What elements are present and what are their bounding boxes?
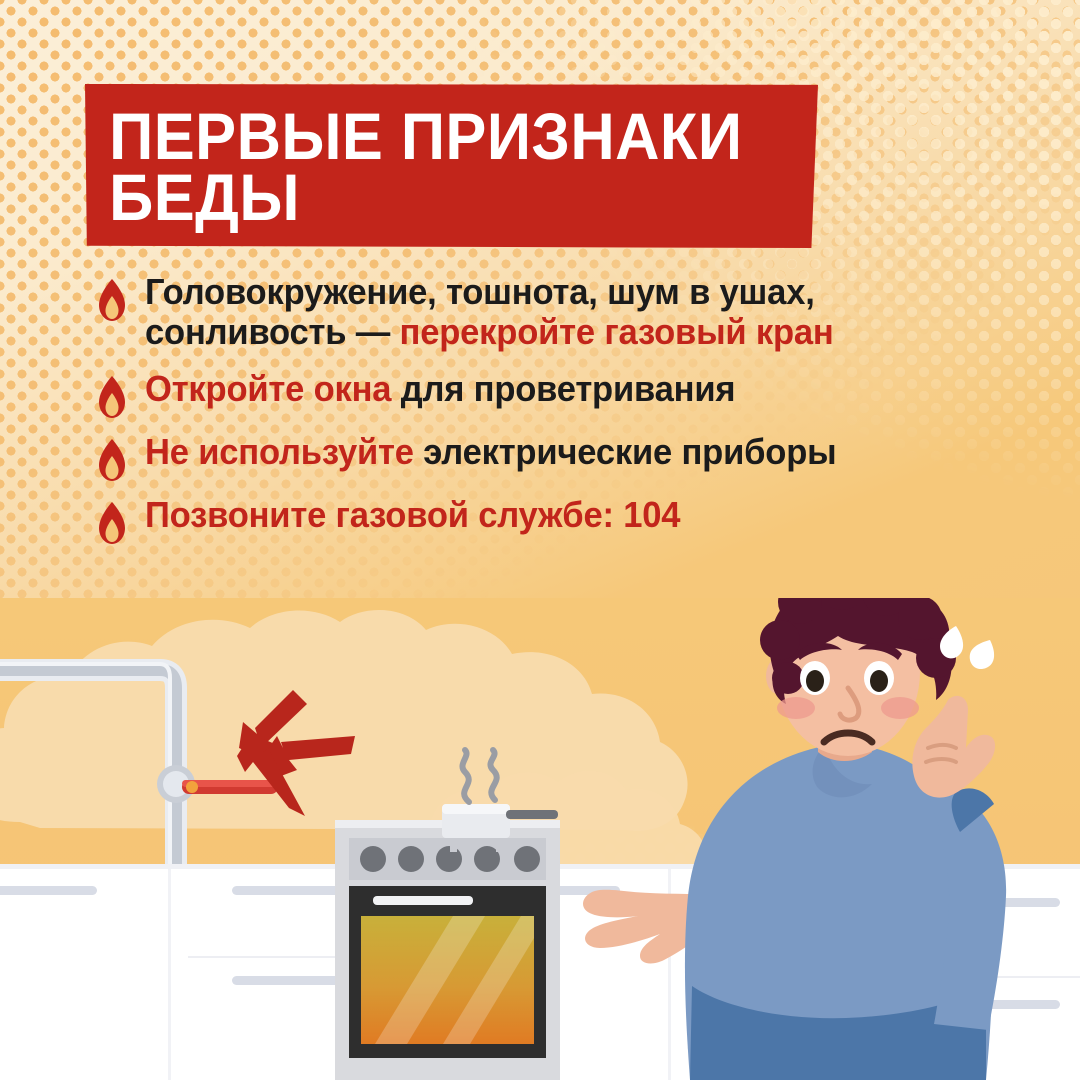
list-item-highlight-2: Откройте окна xyxy=(145,368,391,409)
list-item-plain-3: электрические приборы xyxy=(414,431,837,472)
kitchen-scene xyxy=(0,598,1080,1080)
list-item-highlight-3: Не используйте xyxy=(145,431,414,472)
list-item-text: Не используйте электрические приборы xyxy=(145,432,836,472)
flame-icon xyxy=(96,502,128,544)
list-item: Откройте окна для проветривания xyxy=(96,369,1046,418)
poster-root: ПЕРВЫЕ ПРИЗНАКИ БЕДЫ Головокружение, тош… xyxy=(0,0,1080,1080)
list-item: Не используйте электрические приборы xyxy=(96,432,1046,481)
list-item-text: Головокружение, тошнота, шум в ушах, сон… xyxy=(145,272,1010,353)
flame-icon xyxy=(96,439,128,481)
stove-knob-icon xyxy=(360,846,386,872)
cabinet-handle[interactable] xyxy=(0,886,97,895)
cheek-blush xyxy=(777,697,815,719)
cabinet-divider xyxy=(168,869,171,1080)
sweat-drops-icon xyxy=(938,624,1008,684)
list-item-text: Откройте окна для проветривания xyxy=(145,369,735,409)
flame-icon xyxy=(96,279,128,321)
cheek-blush xyxy=(881,697,919,719)
page-title: ПЕРВЫЕ ПРИЗНАКИ БЕДЫ xyxy=(85,84,742,229)
flame-icon xyxy=(96,376,128,418)
list-item: Позвоните газовой службе: 104 xyxy=(96,495,1046,544)
list-item-highlight-4: Позвоните газовой службе: 104 xyxy=(145,494,680,535)
list-item: Головокружение, тошнота, шум в ушах, сон… xyxy=(96,272,1046,353)
oven-handle-icon xyxy=(373,896,473,905)
pan-handle-icon xyxy=(506,810,558,819)
warning-list: Головокружение, тошнота, шум в ушах, сон… xyxy=(96,272,1046,558)
list-item-highlight-1: перекройте газовый кран xyxy=(400,311,834,352)
list-item-plain-2: для проветривания xyxy=(391,368,735,409)
stove-knob-icon xyxy=(398,846,424,872)
warning-arrows-icon xyxy=(215,688,355,818)
list-item-text: Позвоните газовой службе: 104 xyxy=(145,495,680,535)
steam-icon xyxy=(447,746,527,806)
title-banner: ПЕРВЫЕ ПРИЗНАКИ БЕДЫ xyxy=(85,84,818,248)
